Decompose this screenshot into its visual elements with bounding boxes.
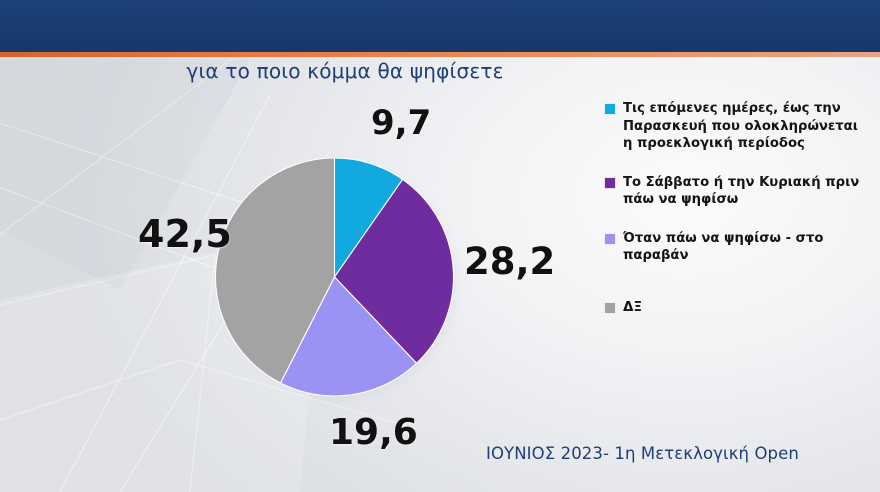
legend-label-weekend: Το Σάββατο ή την Κυριακή πριν πάω να ψηφ… (623, 174, 866, 209)
chart-legend: Τις επόμενες ημέρες, έως την Παρασκευή π… (604, 100, 866, 337)
pie-value-label-3: 42,5 (138, 212, 232, 256)
legend-item-weekend[interactable]: Το Σάββατο ή την Κυριακή πριν πάω να ψηφ… (604, 174, 866, 209)
legend-label-next-days: Τις επόμενες ημέρες, έως την Παρασκευή π… (623, 100, 866, 153)
pie-chart (212, 153, 457, 401)
legend-swatch-next-days (604, 103, 616, 115)
page-subtitle: για το ποιο κόμμα θα ψηφίσετε (0, 59, 690, 83)
legend-label-dont-know: ΔΞ (623, 299, 642, 317)
pie-value-label-0: 9,7 (371, 103, 431, 143)
pie-chart-svg (212, 153, 457, 401)
legend-item-next-days[interactable]: Τις επόμενες ημέρες, έως την Παρασκευή π… (604, 100, 866, 153)
legend-swatch-dont-know (604, 302, 616, 314)
legend-label-at-booth: Όταν πάω να ψηφίσω - στο παραβάν (623, 230, 866, 265)
source-caption: ΙΟΥΝΙΟΣ 2023- 1η Μετεκλογική Open (486, 444, 799, 463)
pie-slice-group (216, 158, 454, 396)
header-accent-underline (0, 52, 880, 57)
legend-swatch-at-booth (604, 233, 616, 245)
header-bar (0, 0, 880, 52)
pie-value-label-1: 28,2 (464, 240, 555, 283)
legend-item-at-booth[interactable]: Όταν πάω να ψηφίσω - στο παραβάν (604, 230, 866, 265)
pie-value-label-2: 19,6 (329, 412, 418, 453)
legend-item-dont-know[interactable]: ΔΞ (604, 299, 866, 317)
legend-swatch-weekend (604, 177, 616, 189)
